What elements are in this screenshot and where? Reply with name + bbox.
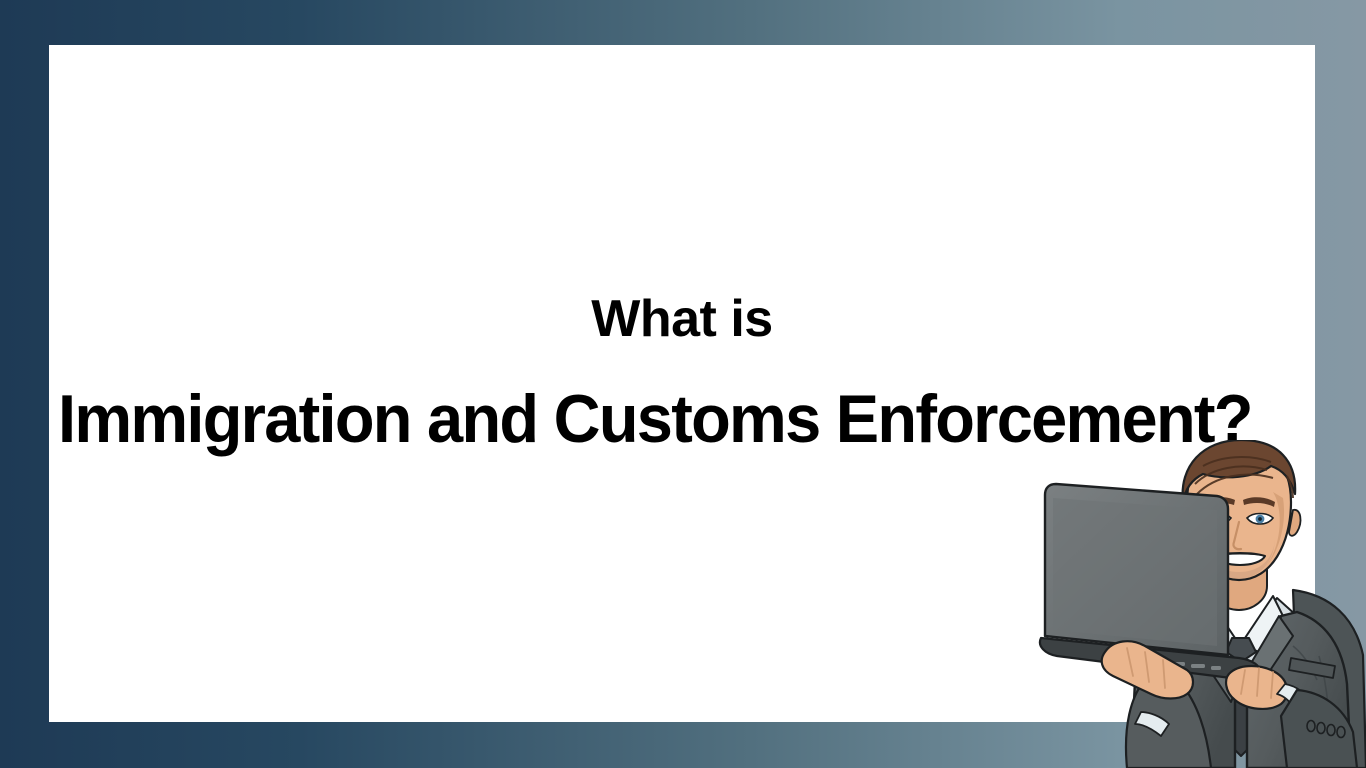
- eye-right: [1247, 514, 1273, 525]
- laptop-lid-inner: [1053, 498, 1217, 646]
- businessman-with-laptop-illustration: [1035, 440, 1366, 768]
- presentation-slide: What is Immigration and Customs Enforcem…: [0, 0, 1366, 768]
